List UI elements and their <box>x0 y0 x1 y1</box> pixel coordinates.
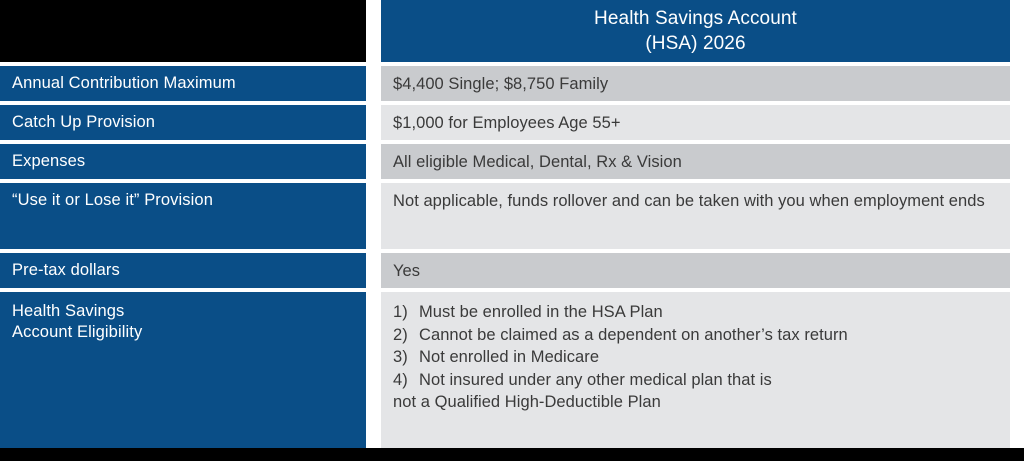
list-item: 2) Cannot be claimed as a dependent on a… <box>393 324 998 347</box>
row-value-pre-tax-dollars: Yes <box>381 253 1010 288</box>
list-item-marker: 3) <box>393 346 419 369</box>
header-blank-cell <box>0 0 366 62</box>
row-value-health-savings-account-eligibility: 1) Must be enrolled in the HSA Plan 2) C… <box>381 292 1010 448</box>
list-item-text: Must be enrolled in the HSA Plan <box>419 301 998 324</box>
eligibility-label-line-2: Account Eligibility <box>12 322 356 343</box>
row-label-pre-tax-dollars: Pre-tax dollars <box>0 253 366 288</box>
row-value-use-it-or-lose-it-provision: Not applicable, funds rollover and can b… <box>381 183 1010 249</box>
list-item: 4) Not insured under any other medical p… <box>393 369 998 392</box>
bottom-black-bar <box>0 448 1024 461</box>
list-item-marker: 2) <box>393 324 419 347</box>
row-label-expenses: Expenses <box>0 144 366 179</box>
row-value-catch-up-provision: $1,000 for Employees Age 55+ <box>381 105 1010 140</box>
hsa-comparison-table: Health Savings Account (HSA) 2026 Annual… <box>0 0 1024 461</box>
eligibility-list-continuation: not a Qualified High-Deductible Plan <box>393 391 998 414</box>
list-item-marker: 1) <box>393 301 419 324</box>
list-item: 3) Not enrolled in Medicare <box>393 346 998 369</box>
eligibility-label-line-1: Health Savings <box>12 301 356 322</box>
header-title-line-2: (HSA) 2026 <box>645 31 745 56</box>
row-value-annual-contribution-maximum: $4,400 Single; $8,750 Family <box>381 66 1010 101</box>
header-hsa-title-cell: Health Savings Account (HSA) 2026 <box>381 0 1010 62</box>
eligibility-requirements-list: 1) Must be enrolled in the HSA Plan 2) C… <box>393 301 998 391</box>
row-label-annual-contribution-maximum: Annual Contribution Maximum <box>0 66 366 101</box>
list-item-text: Cannot be claimed as a dependent on anot… <box>419 324 998 347</box>
row-label-health-savings-account-eligibility: Health Savings Account Eligibility <box>0 292 366 448</box>
header-title-line-1: Health Savings Account <box>594 6 797 31</box>
list-item-text: Not insured under any other medical plan… <box>419 369 998 392</box>
row-label-catch-up-provision: Catch Up Provision <box>0 105 366 140</box>
row-value-expenses: All eligible Medical, Dental, Rx & Visio… <box>381 144 1010 179</box>
list-item-text: Not enrolled in Medicare <box>419 346 998 369</box>
list-item-marker: 4) <box>393 369 419 392</box>
row-label-use-it-or-lose-it-provision: “Use it or Lose it” Provision <box>0 183 366 249</box>
list-item: 1) Must be enrolled in the HSA Plan <box>393 301 998 324</box>
